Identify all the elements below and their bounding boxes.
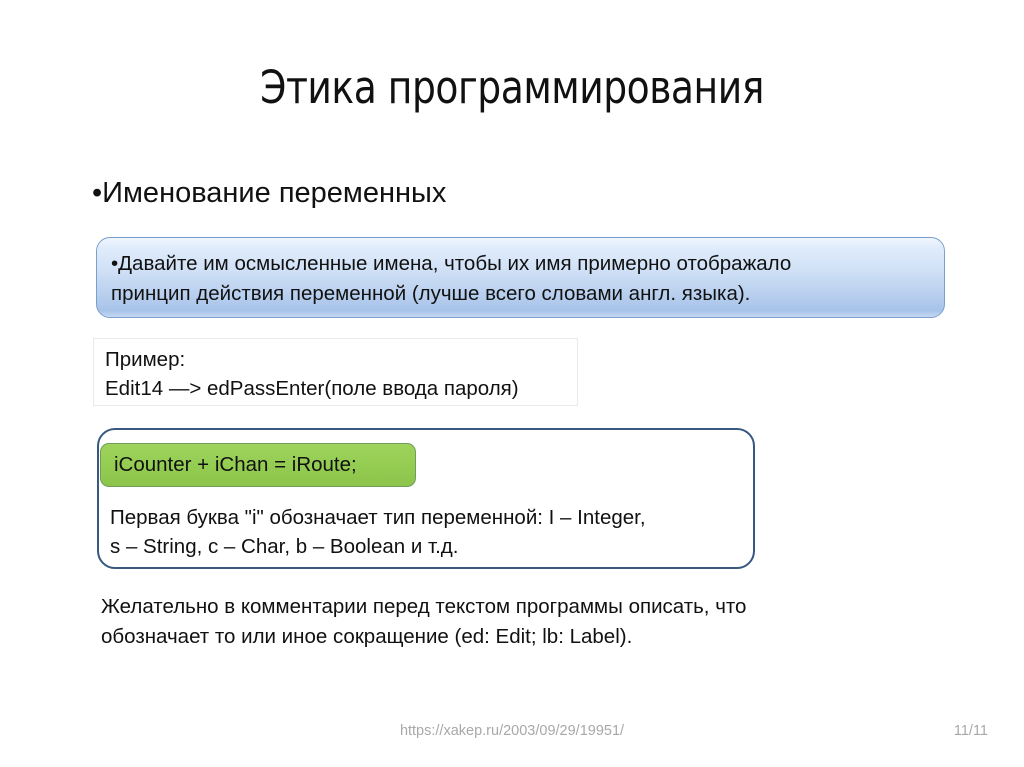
prefix-convention-line-1: Первая буква "i" обозначает тип переменн… [110, 503, 770, 532]
slide-canvas: Этика программирования •Именование перем… [0, 0, 1024, 767]
closing-line-2: обозначает то или иное сокращение (ed: E… [101, 622, 901, 652]
closing-paragraph: Желательно в комментарии перед текстом п… [101, 592, 901, 652]
code-chip-text: iCounter + iChan = iRoute; [114, 453, 357, 477]
example-box: Пример: Edit14 —> edPassEnter(поле ввода… [93, 338, 578, 406]
closing-line-1: Желательно в комментарии перед текстом п… [101, 592, 901, 622]
footer-source-url: https://xakep.ru/2003/09/29/19951/ [0, 722, 1024, 740]
example-label: Пример: [105, 345, 569, 374]
blue-callout-line-2: принцип действия переменной (лучше всего… [111, 279, 928, 309]
bullet-level1-naming-variables: •Именование переменных [92, 174, 446, 212]
code-chip: iCounter + iChan = iRoute; [100, 443, 416, 487]
prefix-convention-text: Первая буква "i" обозначает тип переменн… [110, 503, 770, 561]
blue-callout-box: •Давайте им осмысленные имена, чтобы их … [96, 237, 945, 318]
prefix-convention-line-2: s – String, c – Char, b – Boolean и т.д. [110, 532, 770, 561]
blue-callout-line-1: •Давайте им осмысленные имена, чтобы их … [111, 249, 928, 279]
example-rename-sample: Edit14 —> edPassEnter(поле ввода пароля) [105, 374, 569, 403]
page-title: Этика программирования [92, 62, 933, 114]
footer-page-number: 11/11 [954, 722, 988, 740]
